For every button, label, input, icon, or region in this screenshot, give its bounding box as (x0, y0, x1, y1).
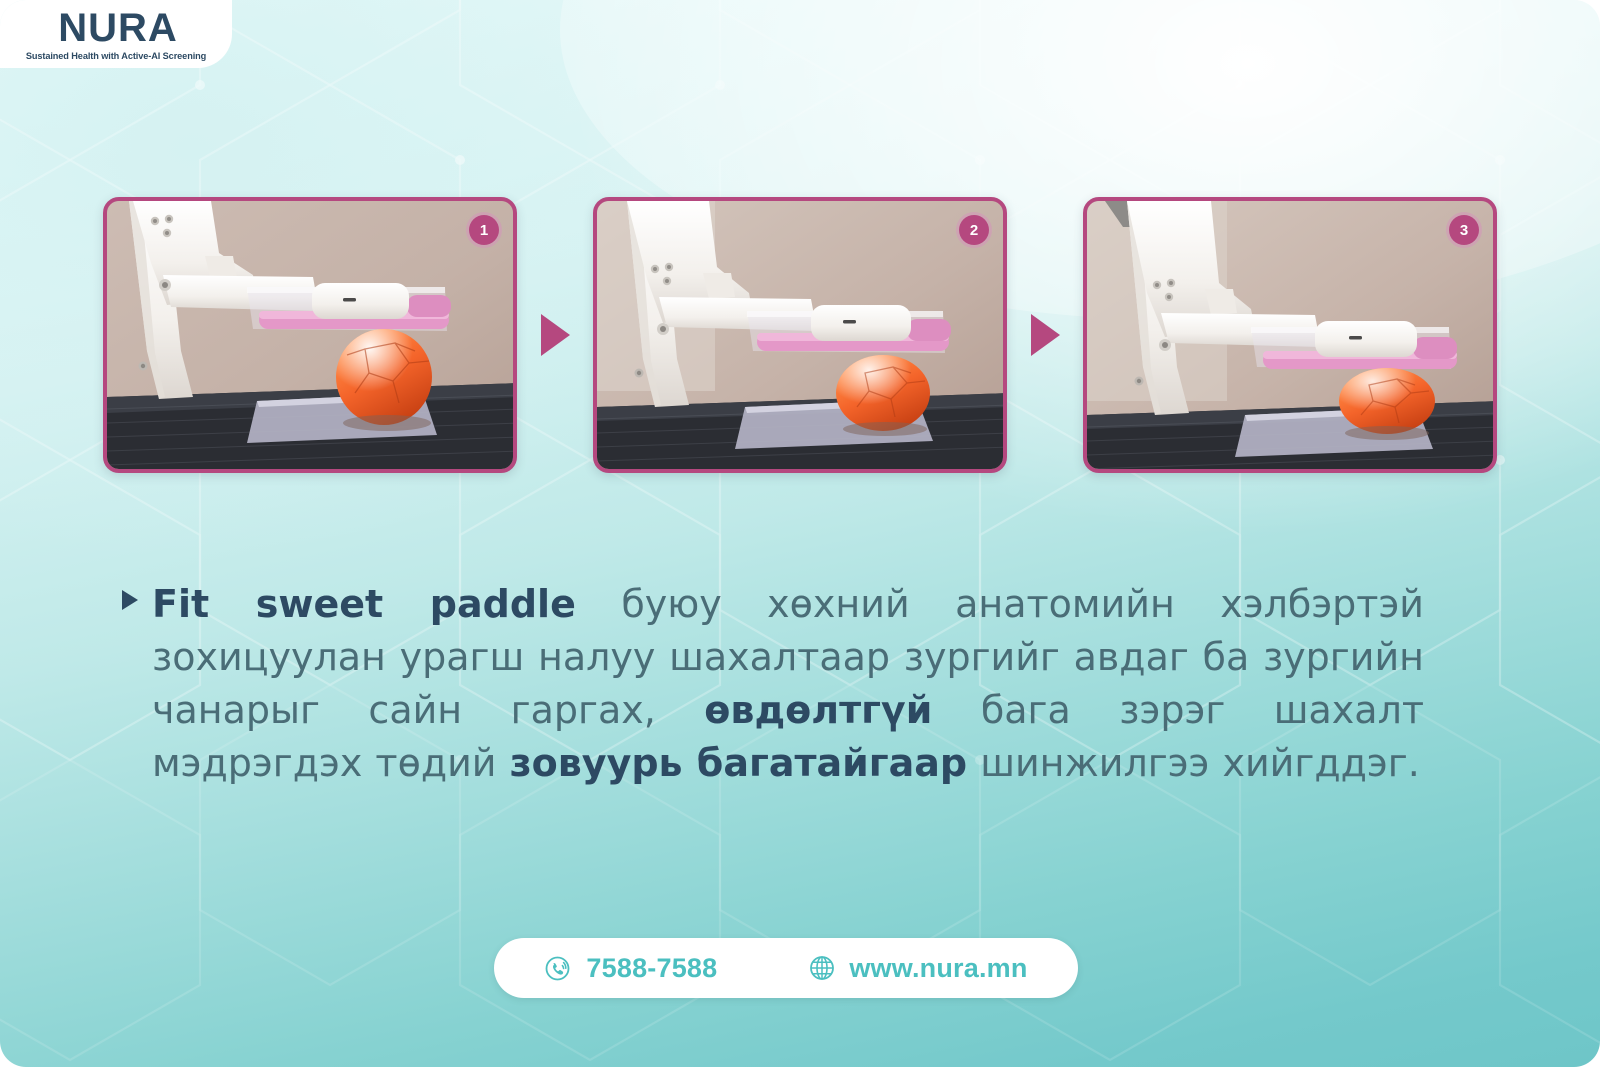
panel-2-photo (597, 201, 1003, 469)
body-segment-0: Fit sweet paddle (152, 582, 576, 626)
brand-logo-badge: NURA Sustained Health with Active-AI Scr… (0, 0, 232, 68)
panel-step-3: 3 (1083, 197, 1497, 473)
brand-wordmark: NURA (58, 8, 178, 48)
globe-icon (807, 953, 837, 983)
phone-number-label: 7588-7588 (586, 953, 717, 984)
play-triangle-right-icon (1027, 312, 1063, 358)
triangle-right-bullet-icon (122, 590, 138, 610)
hexagon-network-background (0, 0, 1600, 1067)
panel-1-photo (107, 201, 513, 469)
website-contact[interactable]: www.nura.mn (807, 953, 1027, 984)
body-segment-5: шинжилгээ хийгддэг. (967, 741, 1420, 785)
play-triangle-right-icon (537, 312, 573, 358)
brand-tagline: Sustained Health with Active-AI Screenin… (26, 51, 206, 61)
body-paragraph: Fit sweet paddle буюу хөхний анатомийн х… (152, 578, 1424, 790)
panel-step-2: 2 (593, 197, 1007, 473)
image-panel-strip: 1 (103, 197, 1497, 473)
phone-ring-circle-icon (544, 953, 574, 983)
body-segment-2: өвдөлтгүй (704, 688, 932, 732)
panel-3-photo (1087, 201, 1493, 469)
panel-number-badge: 3 (1449, 215, 1479, 245)
panel-number-badge: 2 (959, 215, 989, 245)
website-label: www.nura.mn (849, 953, 1027, 984)
body-segment-4: зовуурь багатайгаар (510, 741, 968, 785)
panel-step-1: 1 (103, 197, 517, 473)
panel-number-badge: 1 (469, 215, 499, 245)
contact-bar: 7588-7588 www.nura.mn (494, 938, 1078, 998)
phone-contact[interactable]: 7588-7588 (544, 953, 717, 984)
poster-canvas: NURA Sustained Health with Active-AI Scr… (0, 0, 1600, 1067)
